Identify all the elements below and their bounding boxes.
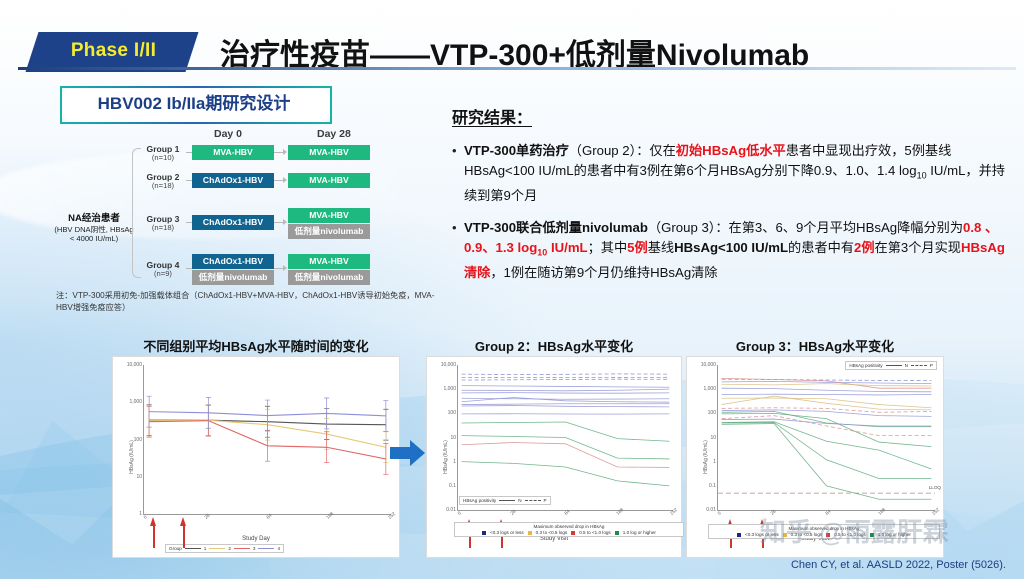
drop-legend-item: <0.3 logs or less (745, 532, 779, 537)
legend-item: 1 (204, 546, 207, 551)
positivity-legend-title: HBsAg positivity (463, 498, 496, 503)
group-label-2: Group 2 (n=18) (140, 173, 186, 191)
legend-line-icon (234, 548, 250, 549)
positivity-p: P (544, 498, 547, 503)
y-tick-label: 100 (134, 437, 142, 443)
drop-legend-title: Maximum observed drop in HBsAg (534, 524, 605, 529)
dose-marker-stem (183, 524, 185, 548)
legend-line-icon (258, 548, 274, 549)
positivity-n: N (905, 363, 908, 368)
results-panel: 研究结果： • VTP-300单药治疗（Group 2）：仅在初始HBsAg低水… (452, 104, 1012, 282)
legend-swatch-icon (571, 531, 575, 535)
group-label-1: Group 1 (n=10) (140, 145, 186, 163)
y-tick-label: 0.01 (446, 507, 456, 513)
drop-legend-item: 1.0 log or higher (878, 532, 911, 537)
chart-3-drop-legend: Maximum observed drop in HBsAg <0.3 logs… (708, 524, 940, 539)
result-text-fragment: （Group 2）：仅在 (569, 143, 676, 158)
result-text-fragment: 2例 (854, 240, 875, 255)
arrow-icon (283, 149, 287, 155)
group-label-3: Group 3 (n=18) (140, 215, 186, 233)
drop-legend-title: Maximum observed drop in HBsAg (789, 526, 860, 531)
bullet-marker: • (452, 141, 464, 205)
x-tick-label: 84 (265, 513, 272, 520)
bullet-marker: • (452, 218, 464, 282)
chart-1-xlabel: Study Day (113, 536, 399, 542)
legend-swatch-icon (783, 533, 787, 537)
group-n: (n=18) (140, 224, 186, 232)
result-text-fragment: VTP-300联合低剂量nivolumab (464, 220, 648, 235)
chart-3-title: Group 3：HBsAg水平变化 (686, 336, 944, 355)
x-tick-label: 84 (824, 509, 831, 516)
x-tick-label: 0 (717, 510, 722, 515)
y-tick-label: 100 (708, 410, 716, 416)
drop-legend-item: 1.0 log or higher (623, 530, 656, 535)
drop-legend-item: 0.3 to <0.5 logs (791, 532, 823, 537)
chart-1-plot: HBsAg (IU/mL) Study Day 10,0001,00010010… (112, 356, 400, 558)
drop-legend-item: 0.3 to <0.5 logs (536, 530, 568, 535)
study-design-note: 注：VTP-300采用初免-加强载体组合（ChAdOx1-HBV+MVA-HBV… (56, 290, 436, 314)
result-text-2: VTP-300联合低剂量nivolumab（Group 3）：在第3、6、9个月… (464, 218, 1012, 282)
dose-marker-arrow-1 (150, 517, 156, 526)
group4-day0-nivolumab: 低剂量nivolumab (192, 270, 274, 285)
y-tick-label: 1,000 (443, 386, 456, 392)
chart-2-positivity-legend: HBsAg positivity N P (459, 496, 551, 505)
header-divider (18, 67, 1016, 70)
chart-1-title: 不同组别平均HBsAg水平随时间的变化 (112, 336, 400, 355)
result-text-fragment: ；其中 (588, 240, 628, 255)
slide-root: Phase I/II 治疗性疫苗——VTP-300+低剂量Nivolumab H… (0, 0, 1024, 579)
y-tick-label: 1,000 (129, 399, 142, 405)
result-text-fragment: 的患者中有 (788, 240, 854, 255)
y-tick-label: 10,000 (701, 362, 716, 368)
chart-2-title: Group 2：HBsAg水平变化 (426, 336, 682, 355)
y-tick-label: 10 (136, 474, 142, 480)
y-tick-label: 1,000 (703, 386, 716, 392)
result-text-fragment: 5例 (627, 240, 648, 255)
group2-day0-chadox1: ChAdOx1-HBV (192, 173, 274, 188)
drop-legend-item: 0.5 to <1.0 logs (834, 532, 866, 537)
group1-day0-mva: MVA-HBV (192, 145, 274, 160)
legend-swatch-icon (737, 533, 741, 537)
legend-item: 2 (228, 546, 231, 551)
positivity-legend-title: HBsAg positivity (849, 363, 882, 368)
result-text-fragment: （Group 3）：在第3、6、9个月平均HBsAg降幅分别为 (648, 220, 963, 235)
x-tick-label: 0 (457, 510, 462, 515)
legend-swatch-icon (528, 531, 532, 535)
population-brace (132, 148, 141, 278)
result-text-1: VTP-300单药治疗（Group 2）：仅在初始HBsAg低水平患者中显现出疗… (464, 141, 1012, 205)
legend-swatch-icon (615, 531, 619, 535)
group3-day0-chadox1: ChAdOx1-HBV (192, 215, 274, 230)
day28-label: Day 28 (317, 128, 351, 140)
group4-day0-chadox1: ChAdOx1-HBV (192, 254, 274, 269)
day0-label: Day 0 (214, 128, 242, 140)
positivity-p: P (930, 363, 933, 368)
citation: Chen CY, et al. AASLD 2022, Poster (5026… (791, 559, 1006, 571)
result-bullet-2: • VTP-300联合低剂量nivolumab（Group 3）：在第3、6、9… (452, 218, 1012, 282)
chart-1-lines (144, 365, 391, 514)
y-tick-label: 10,000 (441, 362, 456, 368)
population-subtitle: (HBV DNA阴性, HBsAg < 4000 IU/mL) (52, 225, 136, 244)
result-text-fragment: 初始HBsAg低水平 (676, 143, 786, 158)
legend-swatch-icon (870, 533, 874, 537)
drop-legend-item: <0.3 logs or less (490, 530, 524, 535)
group1-day28-mva: MVA-HBV (288, 145, 370, 160)
group-n: (n=18) (140, 182, 186, 190)
y-tick-label: 10 (710, 435, 716, 441)
dose-marker-stem (153, 524, 155, 548)
legend-item: 4 (277, 546, 280, 551)
x-tick-label: 0 (143, 514, 148, 519)
chart-3-ylabel: HBsAg (IU/mL) (703, 440, 709, 474)
chart-2-drop-legend: Maximum observed drop in HBsAg <0.3 logs… (454, 522, 684, 537)
slide-header: Phase I/II 治疗性疫苗——VTP-300+低剂量Nivolumab (0, 14, 1024, 68)
population-title: NA经治患者 (52, 210, 136, 224)
chart-1-ylabel: HBsAg (IU/mL) (129, 440, 135, 474)
legend-swatch-icon (482, 531, 486, 535)
population-label: NA经治患者 (HBV DNA阴性, HBsAg < 4000 IU/mL) (52, 210, 136, 244)
flow-arrow-icon (390, 438, 426, 468)
y-tick-label: 1 (713, 459, 716, 465)
result-text-fragment: IU/mL (547, 240, 587, 255)
y-tick-label: 10 (450, 435, 456, 441)
group2-day28-mva: MVA-HBV (288, 173, 370, 188)
dashed-line-icon (911, 365, 927, 366)
dose-marker-arrow-2 (180, 517, 186, 526)
chart-1: 不同组别平均HBsAg水平随时间的变化 HBsAg (IU/mL) Study … (112, 336, 400, 558)
legend-line-icon (209, 548, 225, 549)
chart-2-ylabel: HBsAg (IU/mL) (443, 440, 449, 474)
group3-day28-mva: MVA-HBV (288, 208, 370, 223)
chart-2-lines (458, 365, 673, 510)
group-label-4: Group 4 (n=9) (140, 261, 186, 279)
chart-3-lines (718, 365, 935, 510)
y-tick-label: 0.1 (709, 483, 716, 489)
legend-line-icon (185, 548, 201, 549)
result-bullet-1: • VTP-300单药治疗（Group 2）：仅在初始HBsAg低水平患者中显现… (452, 141, 1012, 205)
phase-badge-label: Phase I/II (46, 40, 181, 64)
group4-day28-nivolumab: 低剂量nivolumab (288, 270, 370, 285)
arrow-icon (283, 265, 287, 271)
lloq-label: LLOQ (929, 485, 941, 490)
solid-line-icon (499, 500, 515, 501)
y-tick-label: 1 (453, 459, 456, 465)
legend-swatch-icon (826, 533, 830, 537)
drop-legend-item: 0.5 to <1.0 logs (579, 530, 611, 535)
dashed-line-icon (525, 500, 541, 501)
x-tick-label: 84 (563, 509, 570, 516)
y-tick-label: 0.1 (449, 483, 456, 489)
positivity-n: N (518, 498, 521, 503)
result-text-fragment: 基线 (648, 240, 674, 255)
solid-line-icon (886, 365, 902, 366)
y-tick-label: 100 (448, 410, 456, 416)
group4-day28-mva: MVA-HBV (288, 254, 370, 269)
result-text-fragment: VTP-300单药治疗 (464, 143, 569, 158)
arrow-icon (283, 177, 287, 183)
y-tick-label: 1 (139, 511, 142, 517)
y-tick-label: 10,000 (127, 362, 142, 368)
chart-1-legend-title: Group (169, 546, 182, 551)
group-n: (n=10) (140, 154, 186, 162)
group-n: (n=9) (140, 270, 186, 278)
result-text-fragment: 在第3个月实现 (875, 240, 961, 255)
chart-3-positivity-legend: HBsAg positivity N P (845, 361, 937, 370)
result-text-fragment: 10 (537, 247, 547, 257)
result-text-fragment: 10 (917, 170, 927, 180)
study-design-badge-label: HBV002 Ib/IIa期研究设计 (60, 91, 328, 117)
results-title: 研究结果： (452, 104, 1012, 128)
result-text-fragment: ，1例在随访第9个月仍维持HBsAg清除 (490, 265, 717, 280)
y-tick-label: 0.01 (706, 507, 716, 513)
legend-item: 3 (253, 546, 256, 551)
arrow-icon (283, 219, 287, 225)
result-text-fragment: HBsAg<100 IU/mL (674, 240, 788, 255)
group3-day28-nivolumab: 低剂量nivolumab (288, 224, 370, 239)
